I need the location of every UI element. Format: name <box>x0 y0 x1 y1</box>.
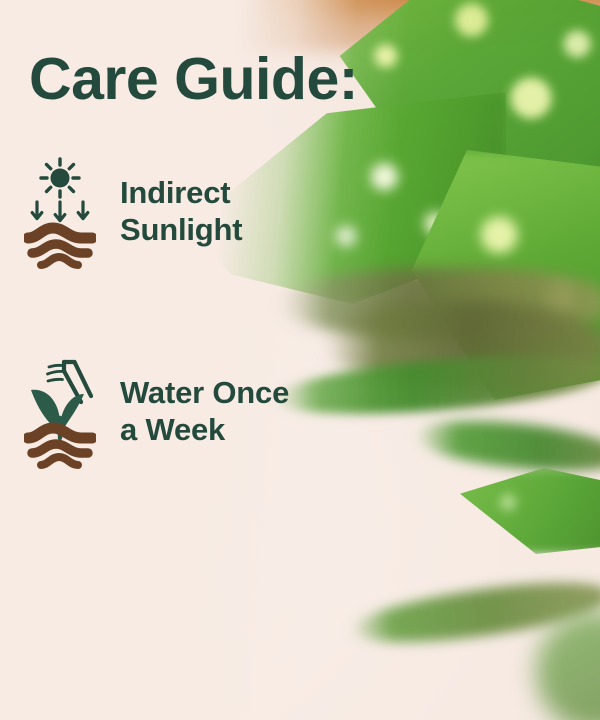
care-item-water: Water Once a Week <box>24 352 289 470</box>
watering-sprout-icon <box>24 352 96 470</box>
care-item-label-water: Water Once a Week <box>120 374 289 448</box>
soil-waves-icon <box>28 228 92 265</box>
care-guide-content: Care Guide: <box>0 0 600 720</box>
care-item-label-sunlight: Indirect Sunlight <box>120 174 242 248</box>
care-item-sunlight: Indirect Sunlight <box>24 152 242 270</box>
down-arrow-icon <box>32 202 88 221</box>
soil-waves-icon <box>28 428 92 465</box>
sun-icon <box>41 159 79 197</box>
plant-care-guide-card: Care Guide: <box>0 0 600 720</box>
water-spray-icon <box>48 365 64 381</box>
sun-over-soil-icon <box>24 152 96 270</box>
page-title: Care Guide: <box>29 50 358 109</box>
